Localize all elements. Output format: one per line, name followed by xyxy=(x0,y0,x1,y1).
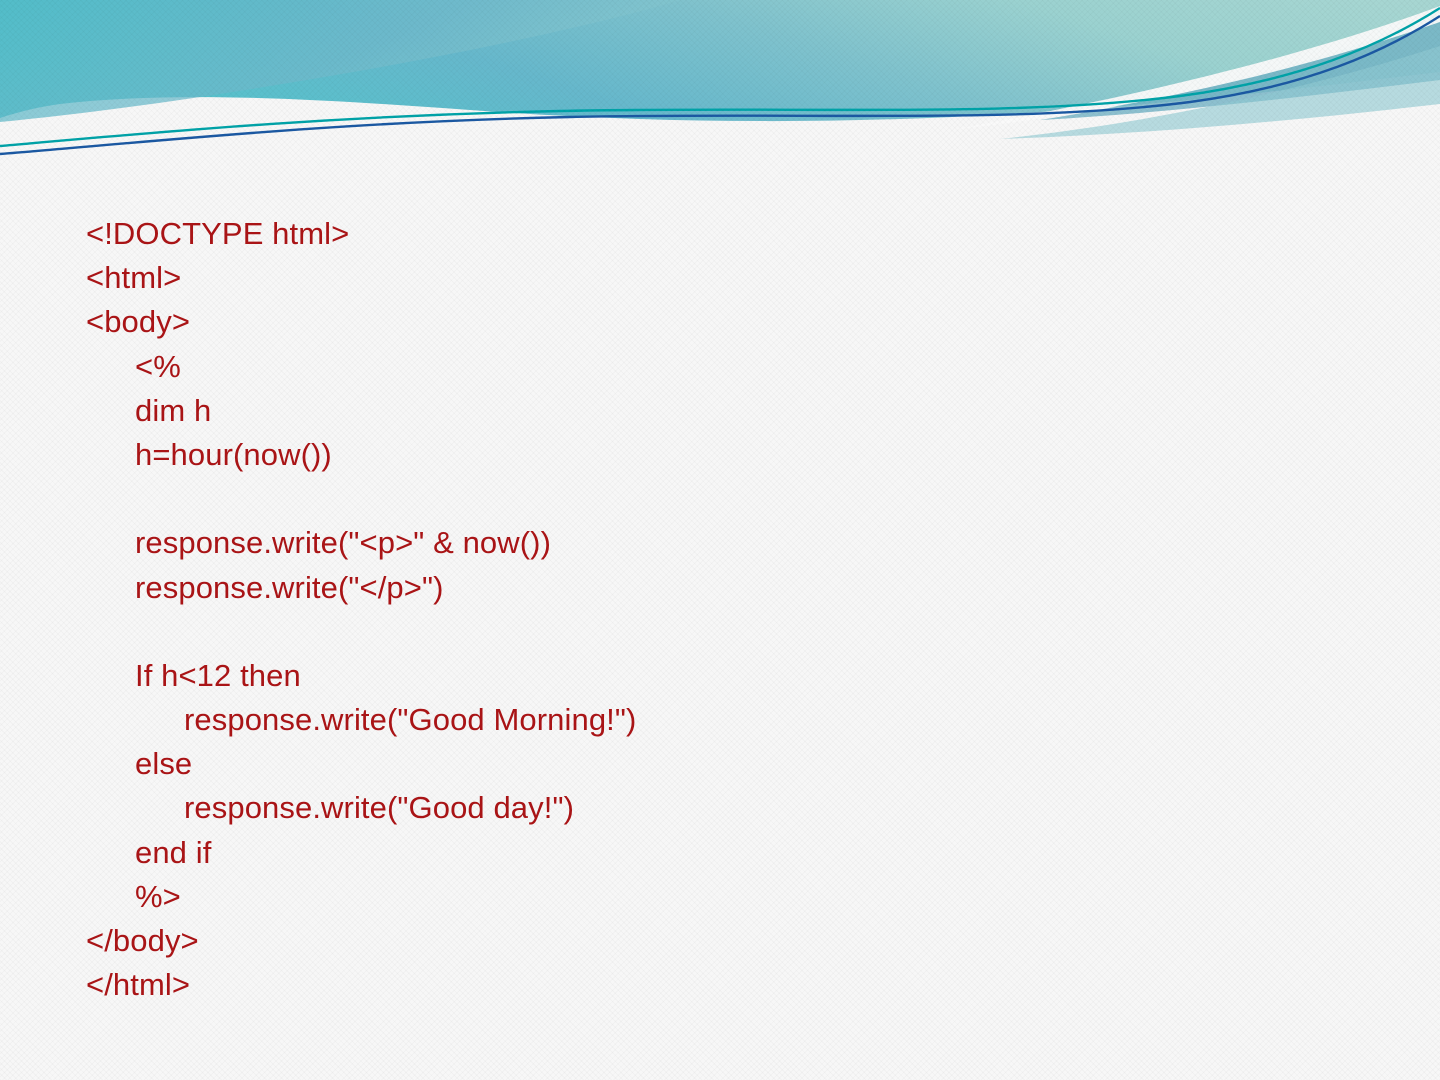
code-listing: <!DOCTYPE html><html><body><%dim hh=hour… xyxy=(86,212,636,1007)
code-line: response.write("</p>") xyxy=(86,566,636,610)
code-line: response.write("Good day!") xyxy=(86,786,636,830)
code-line: <% xyxy=(86,345,636,389)
code-line: dim h xyxy=(86,389,636,433)
code-line: <body> xyxy=(86,300,636,344)
code-line: h=hour(now()) xyxy=(86,433,636,477)
wave-banner-decoration xyxy=(0,0,1440,185)
code-line: <!DOCTYPE html> xyxy=(86,212,636,256)
code-line: If h<12 then xyxy=(86,654,636,698)
code-line: else xyxy=(86,742,636,786)
code-line: response.write("Good Morning!") xyxy=(86,698,636,742)
presentation-slide: <!DOCTYPE html><html><body><%dim hh=hour… xyxy=(0,0,1440,1080)
code-line: <html> xyxy=(86,256,636,300)
code-line: </html> xyxy=(86,963,636,1007)
code-line: response.write("<p>" & now()) xyxy=(86,521,636,565)
code-line-blank xyxy=(86,477,636,521)
code-line-blank xyxy=(86,610,636,654)
code-line: %> xyxy=(86,875,636,919)
code-line: end if xyxy=(86,831,636,875)
code-line: </body> xyxy=(86,919,636,963)
